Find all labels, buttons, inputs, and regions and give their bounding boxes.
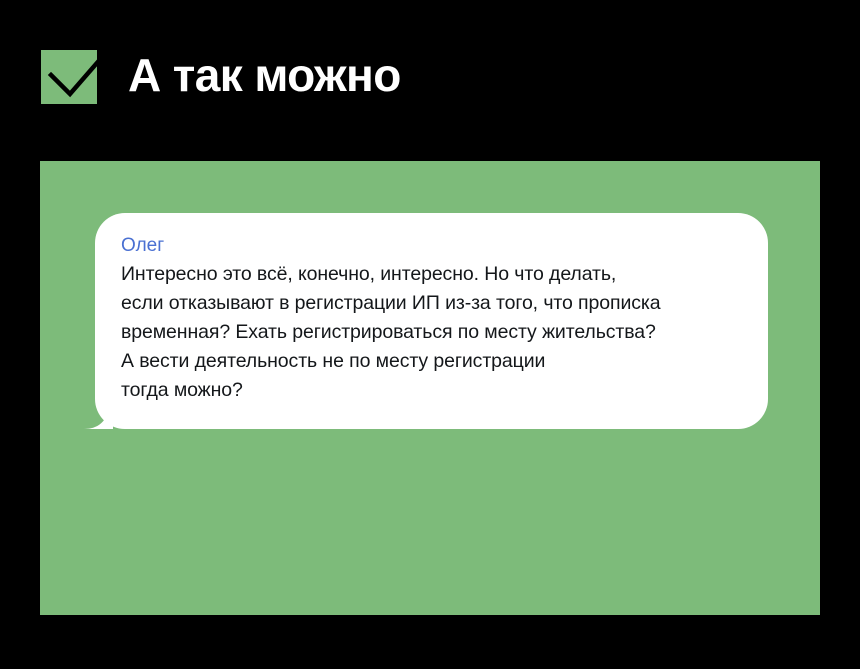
- message-bubble-container: Олег Интересно это всё, конечно, интерес…: [95, 213, 768, 429]
- header: А так можно: [41, 45, 401, 109]
- message-bubble: Олег Интересно это всё, конечно, интерес…: [95, 213, 768, 429]
- checkmark-icon: [41, 50, 97, 104]
- content-panel: Олег Интересно это всё, конечно, интерес…: [40, 161, 820, 615]
- message-text: Интересно это всё, конечно, интересно. Н…: [121, 260, 742, 405]
- message-author: Олег: [121, 234, 742, 258]
- page-title: А так можно: [128, 52, 401, 98]
- bubble-tail-icon: [83, 399, 113, 429]
- slide-root: А так можно Олег Интересно это всё, коне…: [0, 0, 860, 669]
